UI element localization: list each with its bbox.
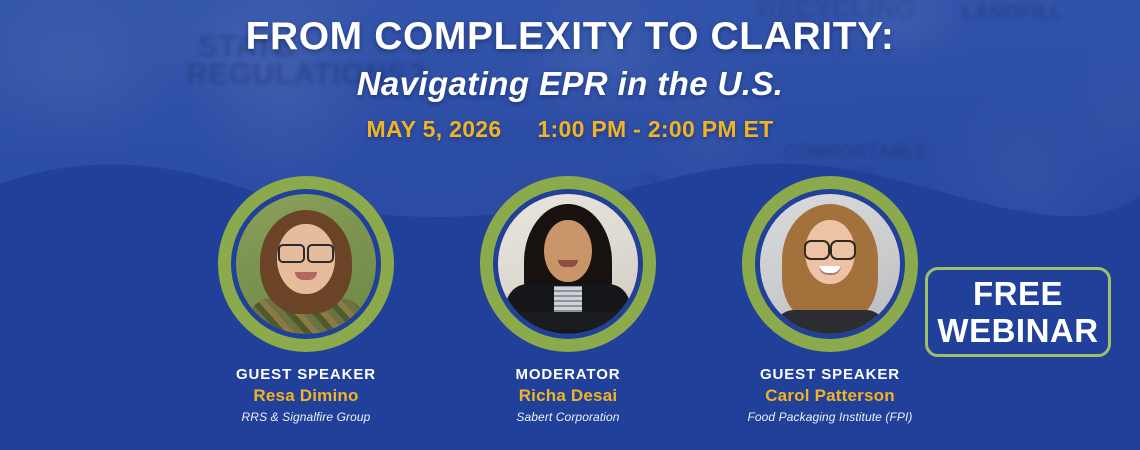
headline-block: FROM COMPLEXITY TO CLARITY: Navigating E…	[0, 16, 1140, 143]
avatar	[760, 194, 900, 334]
event-date: MAY 5, 2026	[366, 116, 501, 143]
badge-line-1: FREE	[973, 277, 1063, 310]
badge-line-2: WEBINAR	[937, 314, 1098, 347]
avatar-ring	[480, 176, 656, 352]
speaker-organization: Food Packaging Institute (FPI)	[712, 410, 948, 424]
avatar-ring-gap	[755, 189, 905, 339]
speaker-role: GUEST SPEAKER	[712, 366, 948, 383]
datetime-row: MAY 5, 2026 1:00 PM - 2:00 PM ET	[0, 116, 1140, 143]
free-webinar-badge[interactable]: FREE WEBINAR	[925, 267, 1111, 357]
speaker-role: MODERATOR	[450, 366, 686, 383]
avatar-ring	[218, 176, 394, 352]
speaker-organization: RRS & Signalfire Group	[188, 410, 424, 424]
speaker-card-carol-patterson: GUEST SPEAKER Carol Patterson Food Packa…	[712, 176, 948, 424]
speaker-card-richa-desai: MODERATOR Richa Desai Sabert Corporation	[450, 176, 686, 424]
avatar	[236, 194, 376, 334]
page-subtitle: Navigating EPR in the U.S.	[0, 66, 1140, 102]
speaker-organization: Sabert Corporation	[450, 410, 686, 424]
avatar	[498, 194, 638, 334]
speaker-name: Resa Dimino	[188, 386, 424, 406]
avatar-ring-gap	[231, 189, 381, 339]
speaker-list: GUEST SPEAKER Resa Dimino RRS & Signalfi…	[188, 176, 948, 424]
speaker-name: Carol Patterson	[712, 386, 948, 406]
speaker-role: GUEST SPEAKER	[188, 366, 424, 383]
page-title: FROM COMPLEXITY TO CLARITY:	[0, 16, 1140, 58]
speaker-card-resa-dimino: GUEST SPEAKER Resa Dimino RRS & Signalfi…	[188, 176, 424, 424]
avatar-ring	[742, 176, 918, 352]
webinar-promo-banner: STATE REGULATIONS? RECYCLING FEES? LANDF…	[0, 0, 1140, 450]
event-time: 1:00 PM - 2:00 PM ET	[537, 116, 773, 143]
speaker-name: Richa Desai	[450, 386, 686, 406]
avatar-ring-gap	[493, 189, 643, 339]
